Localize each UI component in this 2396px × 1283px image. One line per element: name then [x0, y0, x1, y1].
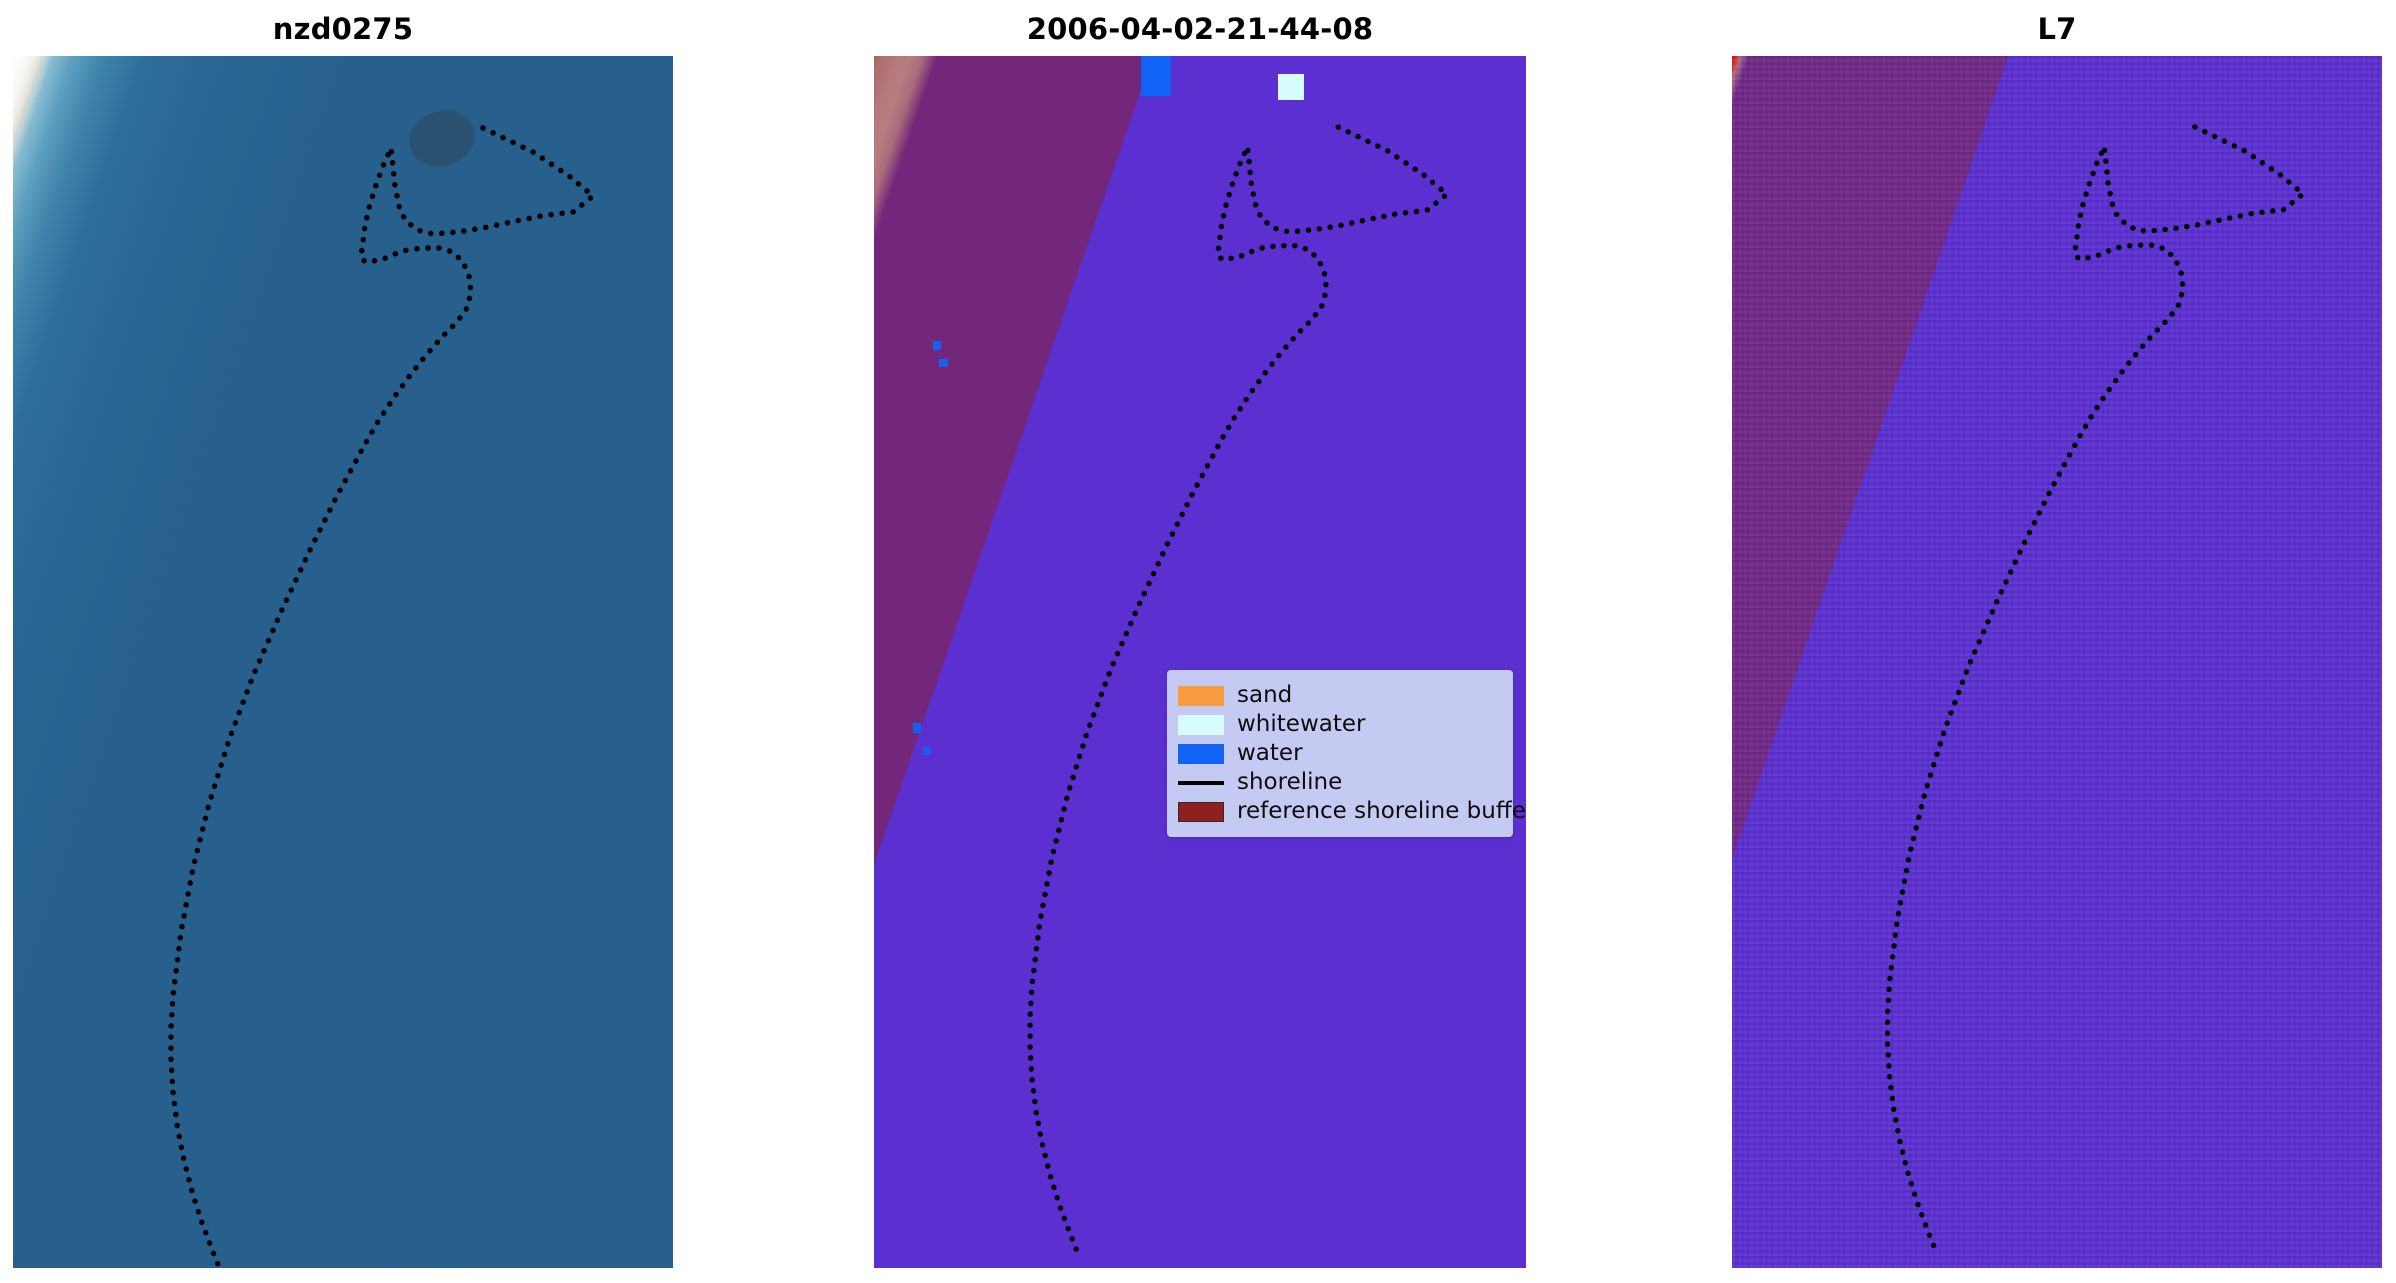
figure-canvas: nzd0275 2006-04-02-21-44-08	[0, 0, 2396, 1283]
legend-item-reference-shoreline-buffer: reference shoreline buffer	[1178, 797, 1500, 826]
panel-rgb: nzd0275	[13, 56, 673, 1268]
legend-label-shoreline: shoreline	[1237, 771, 1342, 794]
legend-label-reference-shoreline-buffer: reference shoreline buffer	[1237, 800, 1526, 823]
legend-swatch-sand	[1178, 686, 1224, 706]
panel-index-title: L7	[1732, 12, 2382, 46]
panel-classified: 2006-04-02-21-44-08	[874, 56, 1526, 1268]
panel-rgb-canvas	[13, 56, 673, 1268]
legend-swatch-whitewater	[1178, 715, 1224, 735]
shoreline-overlay-index	[1732, 56, 2382, 1250]
legend-label-water: water	[1237, 742, 1303, 765]
legend-label-sand: sand	[1237, 684, 1292, 707]
legend: sand whitewater water shoreline referenc…	[1167, 670, 1513, 837]
shoreline-path	[1888, 127, 2304, 1250]
legend-item-shoreline: shoreline	[1178, 768, 1500, 797]
legend-swatch-water	[1178, 744, 1224, 764]
shoreline-path	[171, 128, 593, 1268]
panel-classified-title: 2006-04-02-21-44-08	[874, 12, 1526, 46]
legend-item-water: water	[1178, 739, 1500, 768]
panel-classified-canvas: sand whitewater water shoreline referenc…	[874, 56, 1526, 1268]
panel-index-canvas	[1732, 56, 2382, 1268]
shoreline-overlay-classified	[874, 56, 1526, 1253]
panel-rgb-title: nzd0275	[13, 12, 673, 46]
legend-swatch-shoreline	[1178, 781, 1224, 785]
legend-swatch-reference-shoreline-buffer	[1178, 802, 1224, 822]
legend-item-whitewater: whitewater	[1178, 710, 1500, 739]
legend-item-sand: sand	[1178, 681, 1500, 710]
shoreline-overlay-rgb	[13, 56, 673, 1268]
panel-index: L7	[1732, 56, 2382, 1268]
legend-label-whitewater: whitewater	[1237, 713, 1365, 736]
